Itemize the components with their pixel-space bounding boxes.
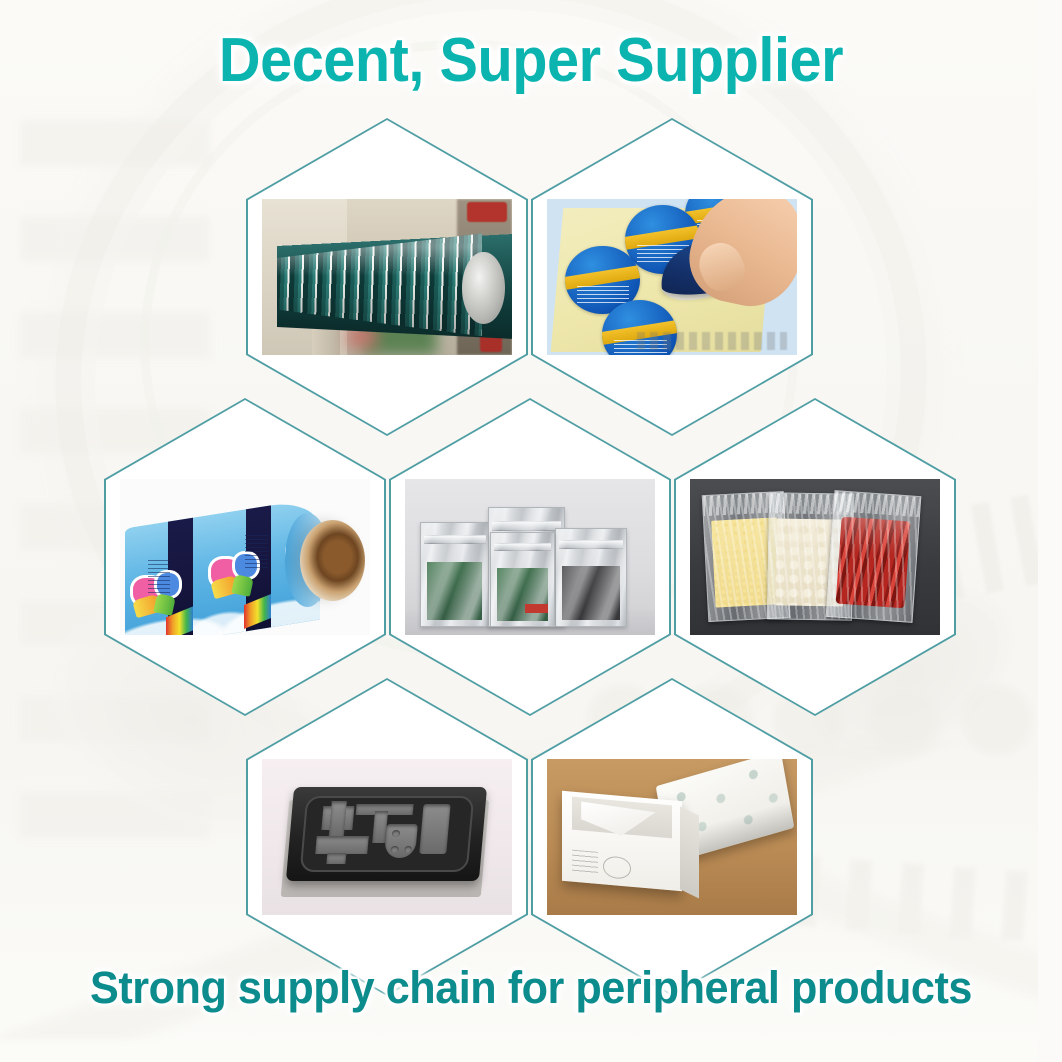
hex-vacuum-food-bags[interactable] xyxy=(674,398,956,716)
hex-gift-box[interactable] xyxy=(531,678,813,996)
photo-teal-slit-film-rolls xyxy=(262,199,512,355)
hex-slit-film-rolls[interactable] xyxy=(246,118,528,436)
hex-eva-foam-tray[interactable] xyxy=(246,678,528,996)
photo-vacuum-sealed-food-bags xyxy=(690,479,940,635)
poster-canvas: Decent, Super Supplier xyxy=(0,0,1062,1062)
photo-white-gift-box-with-floral-lid xyxy=(547,759,797,915)
photo-black-eva-foam-insert-tray xyxy=(262,759,512,915)
hex-esd-zip-bags[interactable] xyxy=(389,398,671,716)
page-subtitle: Strong supply chain for peripheral produ… xyxy=(21,960,1041,1016)
photo-blue-circular-adhesive-labels xyxy=(547,199,797,355)
hex-printed-film-roll[interactable] xyxy=(104,398,386,716)
photo-printed-flexible-packaging-film-roll xyxy=(120,479,370,635)
hexagon-photo-grid xyxy=(0,0,1062,1062)
photo-esd-anti-static-shielding-zip-bags xyxy=(405,479,655,635)
hex-adhesive-labels[interactable] xyxy=(531,118,813,436)
